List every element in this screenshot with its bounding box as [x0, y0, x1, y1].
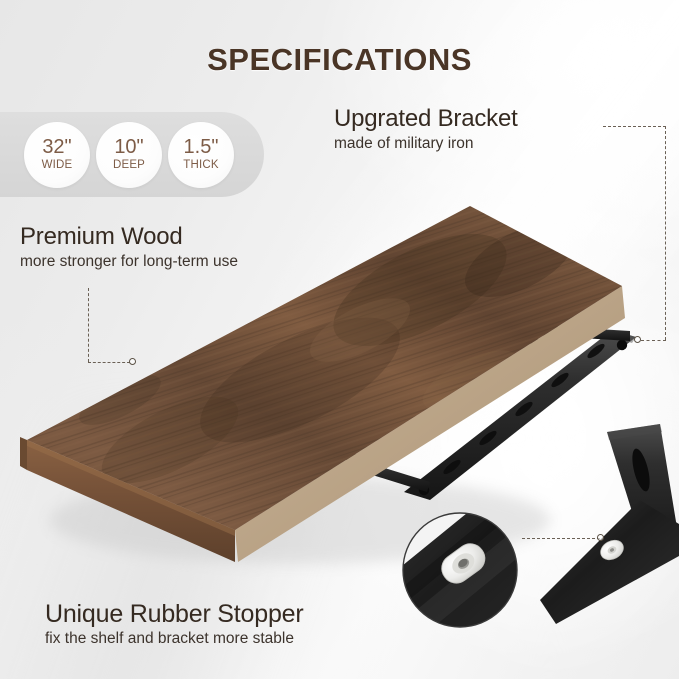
spec-badge-group: 32" WIDE 10" DEEP 1.5" THICK: [0, 112, 264, 197]
badge-width: 32" WIDE: [24, 122, 90, 188]
badge-thickness-value: 1.5": [184, 137, 219, 157]
callout-bracket-subtitle: made of military iron: [334, 135, 518, 154]
bracket-rod-lower: [346, 452, 430, 492]
magnifier-circle-icon: [360, 470, 590, 675]
bracket-rod-upper: [528, 322, 630, 344]
leader-dot-icon: [129, 358, 136, 365]
callout-bracket-title: Upgrated Bracket: [334, 106, 518, 133]
badge-width-label: WIDE: [42, 160, 73, 172]
wall-bracket-main: [346, 322, 636, 500]
product-photo: [0, 0, 679, 679]
callout-wood: Premium Wood more stronger for long-term…: [20, 224, 238, 271]
badge-thickness: 1.5" THICK: [168, 122, 234, 188]
page-title: SPECIFICATIONS: [0, 42, 679, 78]
badge-thickness-label: THICK: [183, 160, 219, 172]
badge-depth-label: DEEP: [113, 160, 145, 172]
badge-depth-value: 10": [114, 137, 143, 157]
leader-dot-icon: [597, 534, 604, 541]
backdrop-sheen-right: [430, 330, 679, 679]
callout-wood-subtitle: more stronger for long-term use: [20, 253, 238, 272]
badge-width-value: 32": [42, 137, 71, 157]
callout-stopper-subtitle: fix the shelf and bracket more stable: [45, 630, 303, 649]
wall-bracket-secondary: [540, 424, 679, 624]
callout-stopper: Unique Rubber Stopper fix the shelf and …: [45, 600, 303, 649]
callout-bracket: Upgrated Bracket made of military iron: [334, 106, 518, 153]
specifications-infographic: SPECIFICATIONS 32" WIDE 10" DEEP 1.5" TH…: [0, 0, 679, 679]
callout-stopper-title: Unique Rubber Stopper: [45, 600, 303, 628]
leader-dot-icon: [634, 336, 641, 343]
badge-depth: 10" DEEP: [96, 122, 162, 188]
callout-wood-title: Premium Wood: [20, 224, 238, 251]
